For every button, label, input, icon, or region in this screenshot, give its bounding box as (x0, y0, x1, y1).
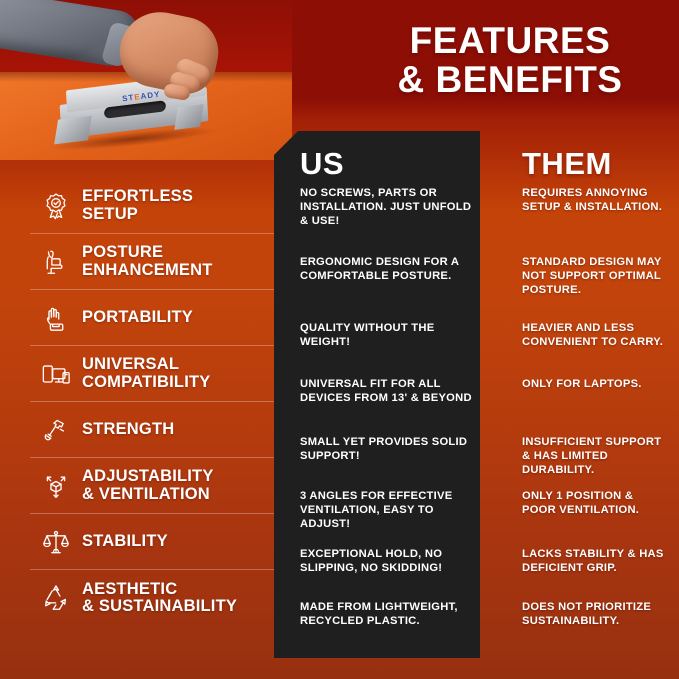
feature-list: EFFORTLESSSETUP POSTUREENHANCEMENT (30, 178, 274, 626)
us-item: NO SCREWS, PARTS OR INSTALLATION. JUST U… (300, 186, 472, 228)
feature-row-effortless-setup: EFFORTLESSSETUP (30, 178, 274, 234)
feature-label: STRENGTH (82, 421, 174, 438)
feature-label: PORTABILITY (82, 309, 193, 326)
them-item: INSUFFICIENT SUPPORT & HAS LIMITED DURAB… (522, 435, 670, 477)
them-item: DOES NOT PRIORITIZE SUSTAINABILITY. (522, 600, 670, 628)
features-benefits-poster: STEADY FEATURES & BENEFITS EFFORTLESSSET… (0, 0, 679, 679)
feature-row-stability: STABILITY (30, 514, 274, 570)
us-item: 3 ANGLES FOR EFFECTIVE VENTILATION, EASY… (300, 489, 472, 531)
feature-row-universal-compatibility: UNIVERSALCOMPATIBILITY (30, 346, 274, 402)
us-column-heading: US (300, 148, 344, 179)
feature-label: POSTUREENHANCEMENT (82, 244, 213, 278)
multi-device-icon (30, 359, 82, 389)
feature-row-portability: PORTABILITY (30, 290, 274, 346)
award-badge-icon (30, 191, 82, 221)
pocket-hand-icon (30, 303, 82, 333)
balance-scale-icon (30, 527, 82, 557)
feature-label: STABILITY (82, 533, 168, 550)
feature-row-aesthetic-sustainability: AESTHETIC& SUSTAINABILITY (30, 570, 274, 626)
us-item: ERGONOMIC DESIGN FOR A COMFORTABLE POSTU… (300, 255, 472, 283)
us-item: MADE FROM LIGHTWEIGHT, RECYCLED PLASTIC. (300, 600, 472, 628)
product-stand-foot-left (54, 116, 92, 145)
them-item: HEAVIER AND LESS CONVENIENT TO CARRY. (522, 321, 670, 349)
product-stand-foot-right (174, 104, 203, 130)
them-item: LACKS STABILITY & HAS DEFICIENT GRIP. (522, 547, 670, 575)
feature-label: UNIVERSALCOMPATIBILITY (82, 356, 210, 390)
them-item: ONLY FOR LAPTOPS. (522, 377, 642, 391)
title-line-2: & BENEFITS (360, 61, 660, 100)
box-arrows-icon (30, 471, 82, 501)
ergonomic-seat-icon (30, 247, 82, 277)
them-item: STANDARD DESIGN MAY NOT SUPPORT OPTIMAL … (522, 255, 670, 297)
them-item: ONLY 1 POSITION & POOR VENTILATION. (522, 489, 670, 517)
page-title: FEATURES & BENEFITS (360, 22, 660, 100)
us-item: EXCEPTIONAL HOLD, NO SLIPPING, NO SKIDDI… (300, 547, 472, 575)
feature-label: EFFORTLESSSETUP (82, 188, 193, 222)
product-photo: STEADY (0, 0, 292, 160)
feature-row-adjustability-ventilation: ADJUSTABILITY& VENTILATION (30, 458, 274, 514)
recycle-icon (30, 583, 82, 613)
us-item: SMALL YET PROVIDES SOLID SUPPORT! (300, 435, 472, 463)
title-line-1: FEATURES (410, 20, 611, 61)
them-item: REQUIRES ANNOYING SETUP & INSTALLATION. (522, 186, 670, 214)
feature-row-strength: STRENGTH (30, 402, 274, 458)
them-column-heading: THEM (522, 148, 612, 179)
us-item: QUALITY WITHOUT THE WEIGHT! (300, 321, 472, 349)
feature-label: ADJUSTABILITY& VENTILATION (82, 468, 214, 502)
feature-label: AESTHETIC& SUSTAINABILITY (82, 581, 237, 615)
us-item: UNIVERSAL FIT FOR ALL DEVICES FROM 13' &… (300, 377, 472, 405)
hammer-strength-icon (30, 415, 82, 445)
feature-row-posture-enhancement: POSTUREENHANCEMENT (30, 234, 274, 290)
